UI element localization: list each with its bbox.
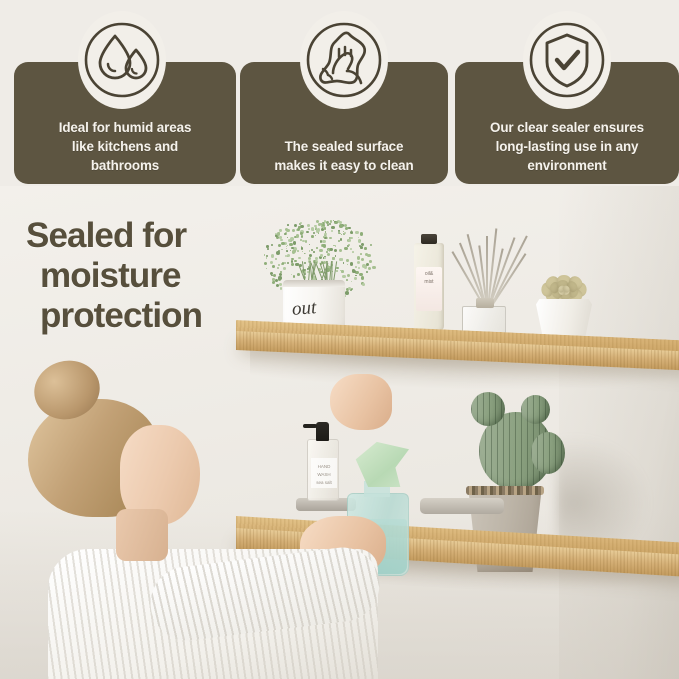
feature-card-3-line-1: Our clear sealer ensures <box>490 118 644 137</box>
feature-card-2-line-1: The sealed surface <box>274 137 413 156</box>
page-root: Ideal for humid areas like kitchens and … <box>0 0 679 679</box>
bottle-label: oil& mist <box>416 267 442 311</box>
girl-neck <box>116 509 168 561</box>
succulent-pot <box>536 299 592 337</box>
hand-wiping-cloth-icon <box>300 11 388 109</box>
feature-card-1-text: Ideal for humid areas like kitchens and … <box>53 118 198 175</box>
feature-card-3-text: Our clear sealer ensures long-lasting us… <box>484 118 650 175</box>
diffuser-neck <box>476 298 494 308</box>
secondary-tray <box>420 498 504 514</box>
feature-card-bar: Ideal for humid areas like kitchens and … <box>0 0 679 192</box>
plant-pot-script-text: out <box>291 297 317 321</box>
headline-line-3: protection <box>40 296 256 336</box>
headline-line-1: Sealed for <box>26 216 256 256</box>
glass-bottle: oil& mist <box>414 243 444 331</box>
feature-card-1-line-1: Ideal for humid areas <box>59 118 192 137</box>
feature-card-1-line-2: like kitchens and <box>59 137 192 156</box>
water-drops-icon <box>78 11 166 109</box>
bottle-label-line-1: oil& <box>416 271 442 279</box>
bottle-cap <box>421 234 437 244</box>
headline-line-2: moisture <box>40 256 256 296</box>
feature-card-3-line-2: long-lasting use in any <box>490 137 644 156</box>
feature-card-2-text: The sealed surface makes it easy to clea… <box>268 137 419 175</box>
girl <box>0 361 400 679</box>
cactus-pot-pebbles <box>466 486 544 495</box>
shield-check-icon <box>523 11 611 109</box>
feature-card-2-line-2: makes it easy to clean <box>274 156 413 175</box>
potted-green-plant-foliage <box>258 199 378 287</box>
feature-card-1-line-3: bathrooms <box>59 156 192 175</box>
bottle-label-line-2: mist <box>416 279 442 287</box>
headline: Sealed for moisture protection <box>26 216 256 336</box>
feature-card-3-line-3: environment <box>490 156 644 175</box>
plant-pot-rim <box>283 280 345 287</box>
